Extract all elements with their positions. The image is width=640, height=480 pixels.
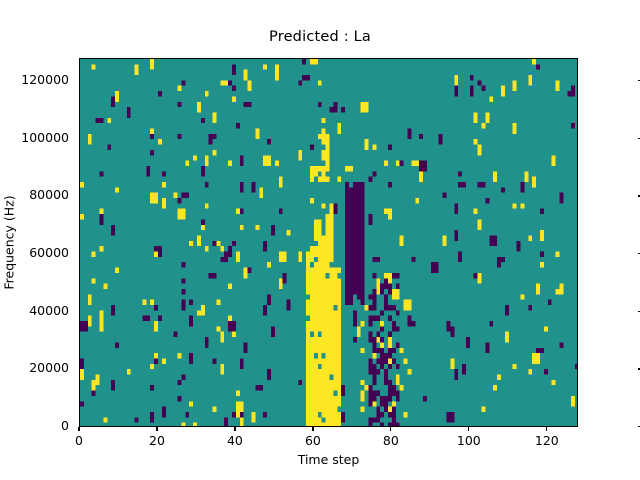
x-tick-label: 40 — [195, 433, 275, 448]
y-axis-label-text: Frequency (Hz) — [2, 195, 17, 289]
y-tick-label: 40000 — [29, 303, 69, 318]
heatmap-cells — [80, 59, 577, 426]
x-tick-label: 100 — [429, 433, 509, 448]
y-tick-label: 100000 — [21, 130, 69, 145]
x-tick-mark — [312, 427, 313, 431]
y-tick-label: 0 — [61, 418, 69, 433]
heatmap-raster — [80, 59, 578, 427]
heatmap-axes — [79, 58, 578, 427]
x-tick-label: 80 — [351, 433, 431, 448]
y-tick-label: 80000 — [29, 187, 69, 202]
y-axis-label: Frequency (Hz) — [0, 58, 18, 427]
x-tick-label: 120 — [507, 433, 587, 448]
x-tick-label: 0 — [39, 433, 119, 448]
x-tick-mark — [468, 427, 469, 431]
x-axis-label: Time step — [79, 452, 578, 467]
x-tick-mark — [234, 427, 235, 431]
x-tick-mark — [546, 427, 547, 431]
matplotlib-figure: Predicted : La 0200004000060000800001000… — [0, 0, 640, 480]
y-tick-label: 20000 — [29, 360, 69, 375]
y-tick-label: 60000 — [29, 245, 69, 260]
x-tick-label: 20 — [117, 433, 197, 448]
x-tick-mark — [78, 427, 79, 431]
x-tick-label: 60 — [273, 433, 353, 448]
x-tick-mark — [390, 427, 391, 431]
x-tick-mark — [156, 427, 157, 431]
chart-title: Predicted : La — [0, 29, 640, 45]
y-tick-label: 120000 — [21, 72, 69, 87]
